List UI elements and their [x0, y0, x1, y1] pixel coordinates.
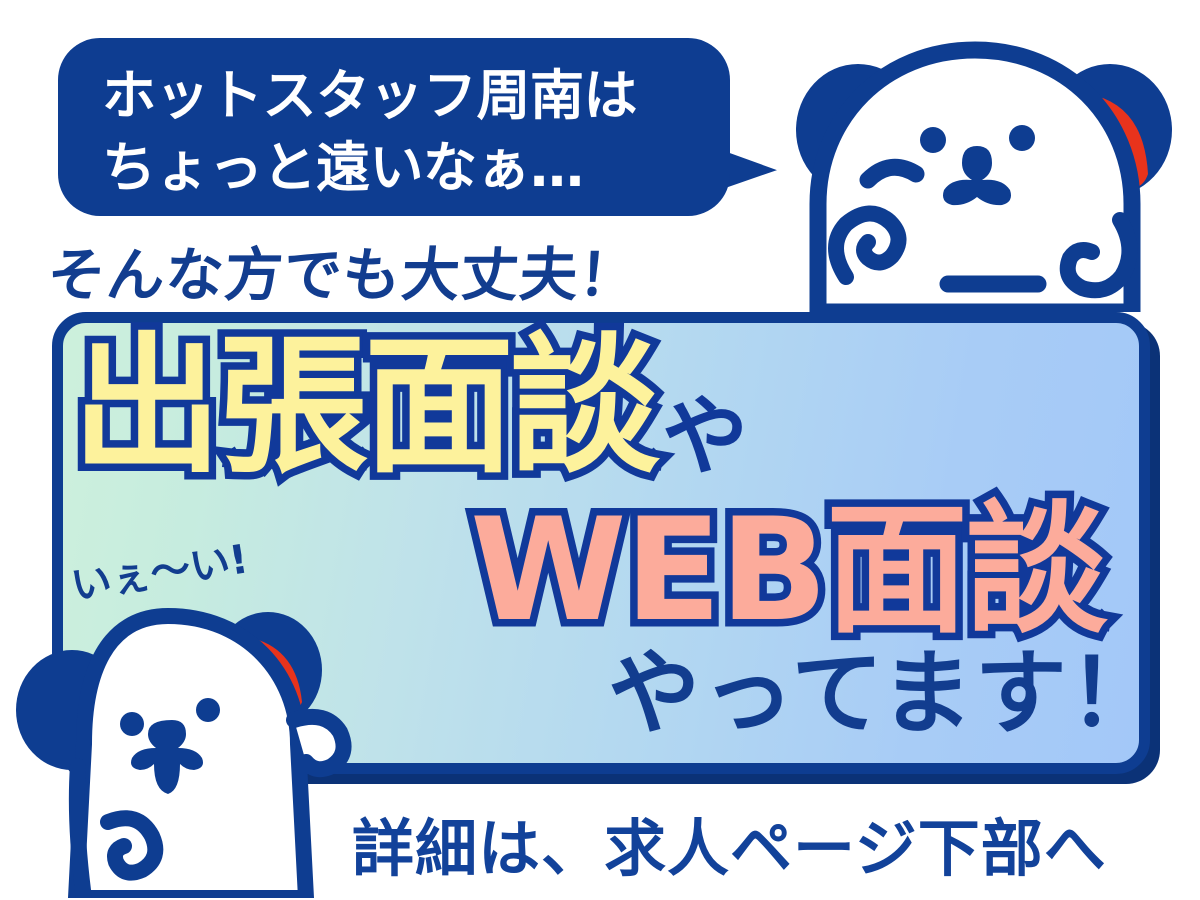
panel-headline-web-mendan: WEB面談	[470, 488, 1106, 653]
panel-headline-ya: や	[662, 394, 748, 480]
banner-canvas: ホットスタッフ周南は ちょっと遠いなぁ… そんな方でも大丈夫！ 出張面談 や W…	[0, 0, 1200, 900]
sub-headline: そんな方でも大丈夫！	[45, 228, 641, 312]
cheering-bear-icon	[10, 598, 370, 898]
panel-headline-line3: やってます！	[608, 648, 1163, 740]
speech-bubble: ホットスタッフ周南は ちょっと遠いなぁ…	[58, 38, 730, 216]
worried-bear-icon	[770, 22, 1180, 312]
panel-headline-shucchou-mendan: 出張面談	[72, 332, 656, 482]
panel-headline-line1: 出張面談 や	[72, 332, 748, 482]
footer-caption: 詳細は、求人ページ下部へ	[352, 798, 1107, 888]
speech-bubble-text: ホットスタッフ周南は ちょっと遠いなぁ…	[102, 60, 710, 204]
panel-headline-line2: WEB面談	[470, 500, 1106, 642]
